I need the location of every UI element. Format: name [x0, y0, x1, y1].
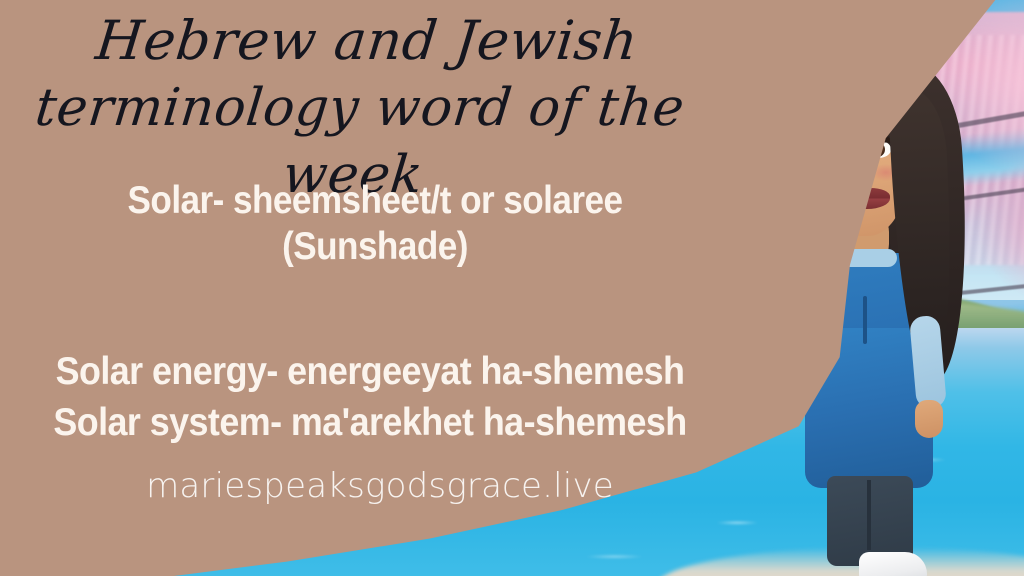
website-url[interactable]: mariespeaksgodsgrace.live: [20, 466, 740, 506]
related-phrases: Solar energy- energeeyat ha-shemesh Sola…: [48, 346, 692, 449]
phrase-solar-system: Solar system- ma'arekhet ha-shemesh: [48, 397, 692, 448]
word-of-week-entry: Solar- sheemsheet/t or solaree (Sunshade…: [65, 178, 686, 270]
social-graphic-canvas: Hebrew and Jewish terminology word of th…: [0, 0, 1024, 576]
phrase-solar-energy: Solar energy- energeeyat ha-shemesh: [48, 346, 692, 397]
title-line-1: Hebrew and Jewish: [3, 6, 730, 75]
hand-lowered: [915, 400, 943, 438]
shoe: [859, 552, 927, 576]
entry-term-line: Solar- sheemsheet/t or solaree: [65, 178, 686, 224]
drawstring: [863, 296, 867, 344]
entry-meaning-line: (Sunshade): [65, 224, 686, 270]
leg-seam: [867, 480, 871, 550]
